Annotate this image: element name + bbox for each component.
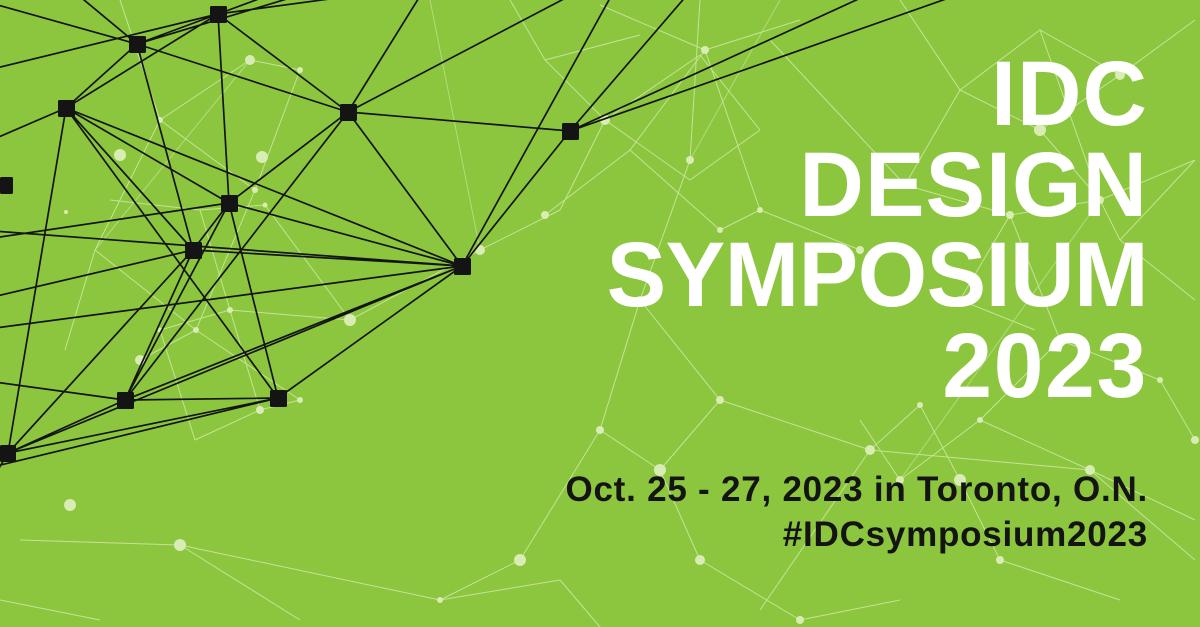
- title-line-year: 2023: [275, 324, 1148, 409]
- title-line-symposium: SYMPOSIUM: [275, 233, 1148, 318]
- event-title-block: IDC DESIGN SYMPOSIUM 2023: [248, 52, 1148, 409]
- event-info-block: Oct. 25 - 27, 2023 in Toronto, O.N. #IDC…: [248, 468, 1148, 558]
- event-date-location: Oct. 25 - 27, 2023 in Toronto, O.N.: [248, 468, 1148, 513]
- title-line-idc: IDC: [275, 52, 1148, 137]
- poster-canvas: IDC DESIGN SYMPOSIUM 2023 Oct. 25 - 27, …: [0, 0, 1200, 627]
- event-hashtag: #IDCsymposium2023: [248, 513, 1148, 558]
- title-line-design: DESIGN: [275, 143, 1148, 228]
